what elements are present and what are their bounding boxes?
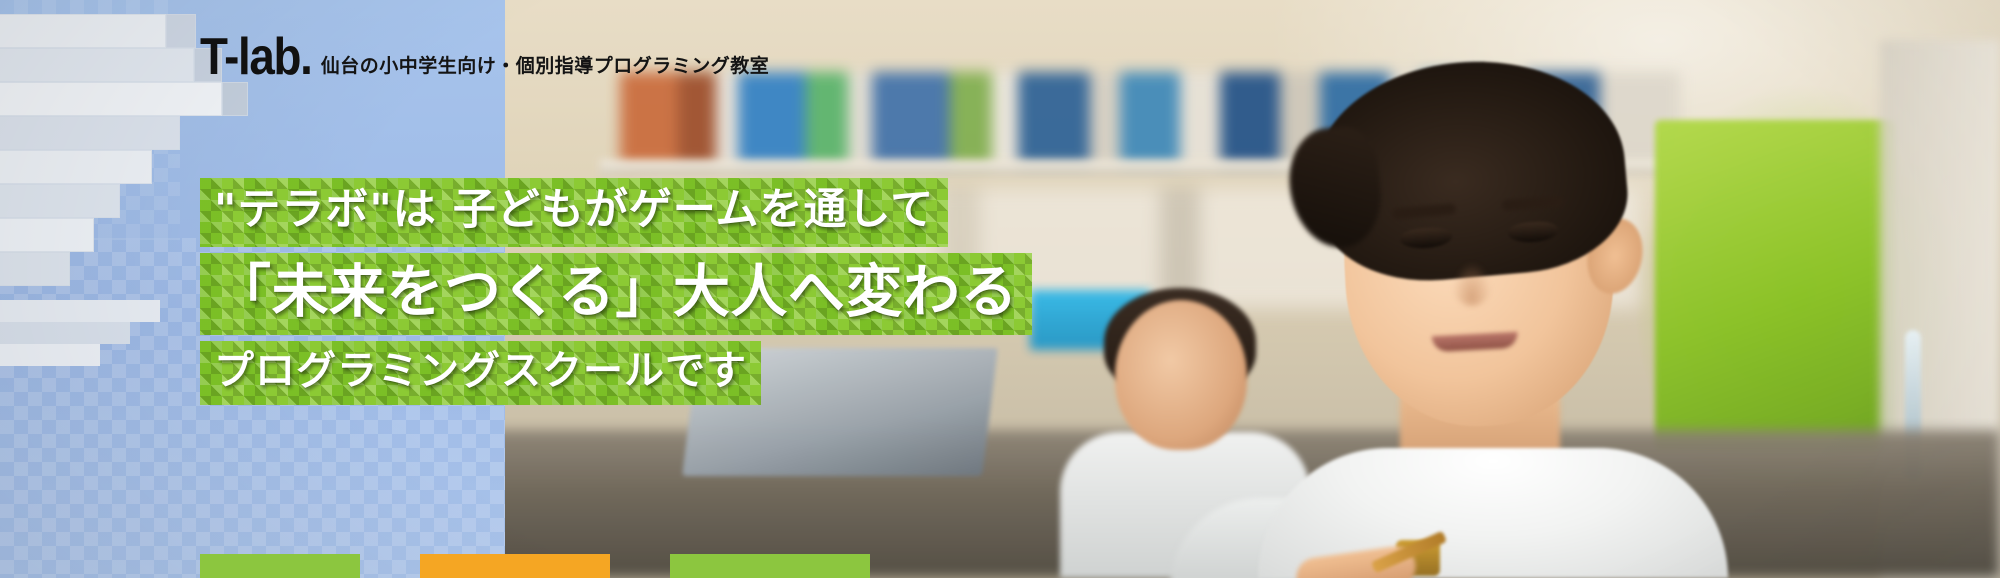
- pixel-band-3: [0, 344, 100, 366]
- hero-banner: T-lab. 仙台の小中学生向け・個別指導プログラミング教室 "テラボ"は 子ど…: [0, 0, 2000, 578]
- bottom-bar-spacer-2: [610, 554, 670, 578]
- bottom-bar-green-1: [200, 554, 360, 578]
- background-child-head: [1115, 300, 1247, 450]
- bottom-bar-orange: [420, 554, 610, 578]
- logo-tagline: 仙台の小中学生向け・個別指導プログラミング教室: [321, 51, 770, 82]
- bottom-color-bars: [0, 554, 2000, 578]
- bottom-bar-spacer-1: [360, 554, 420, 578]
- pixel-band-2: [0, 322, 130, 344]
- logo-wordmark: T-lab.: [200, 34, 312, 82]
- bottom-bar-spacer-left: [0, 554, 200, 578]
- green-cabinet: [1655, 120, 1895, 450]
- headline-line-3: プログラミングスクールです: [200, 341, 761, 405]
- site-logo[interactable]: T-lab. 仙台の小中学生向け・個別指導プログラミング教室: [200, 34, 769, 82]
- hero-headline: "テラボ"は 子どもがゲームを通して 「未来をつくる」大人へ変わる プログラミン…: [200, 178, 1032, 405]
- foreground-boy-nose: [1452, 262, 1492, 306]
- pixel-band-1: [0, 300, 160, 322]
- headline-line-2: 「未来をつくる」大人へ変わる: [200, 253, 1032, 336]
- bottom-bar-green-2: [670, 554, 870, 578]
- headline-line-1: "テラボ"は 子どもがゲームを通して: [200, 178, 948, 247]
